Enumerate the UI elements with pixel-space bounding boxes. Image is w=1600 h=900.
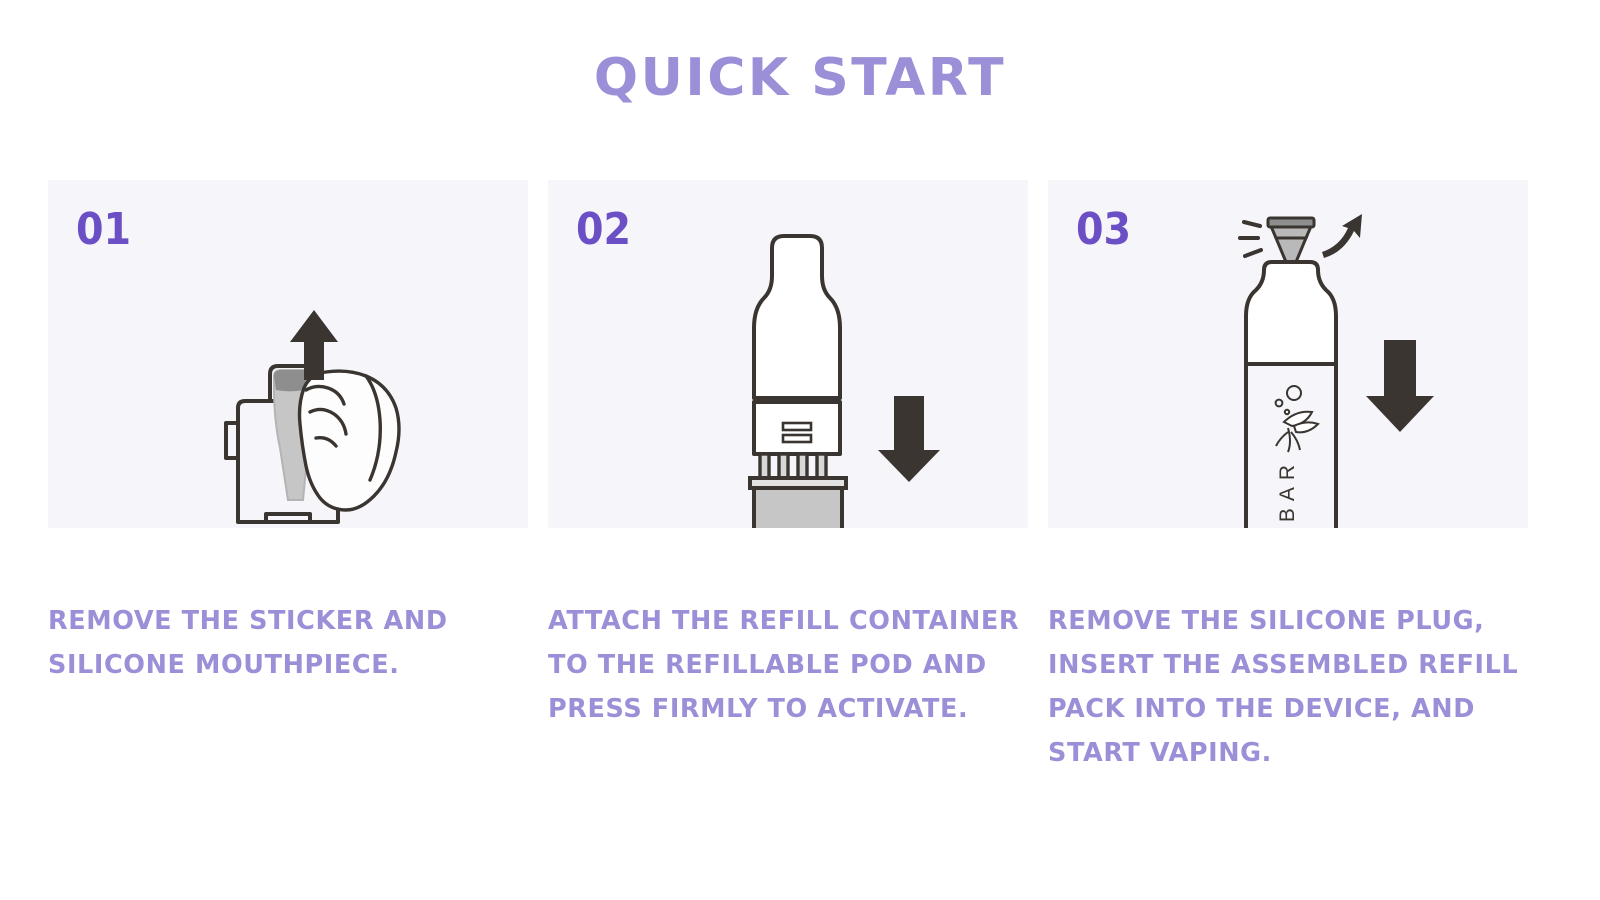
illustration-remove-plug-insert: BAR xyxy=(1048,180,1528,528)
device-brand-text: BAR xyxy=(1276,458,1299,522)
illustration-attach-refill xyxy=(548,180,1028,528)
step-panel-1: 01 xyxy=(48,180,528,528)
step-caption-3: REMOVE THE SILICONE PLUG, INSERT THE ASS… xyxy=(1048,600,1548,775)
illustration-remove-sticker xyxy=(48,180,528,528)
step-caption-1: REMOVE THE STICKER AND SILICONE MOUTHPIE… xyxy=(48,600,538,688)
curved-arrow xyxy=(1322,214,1362,258)
brand-leaf-logo xyxy=(1276,386,1318,452)
arrow-down xyxy=(878,396,940,482)
step-column-1: 01 xyxy=(48,180,528,775)
arrow-down xyxy=(1366,340,1434,432)
silicone-plug xyxy=(1268,218,1314,262)
step-panel-2: 02 xyxy=(548,180,1028,528)
step-column-3: 03 xyxy=(1048,180,1528,775)
motion-lines xyxy=(1240,222,1261,256)
step-column-2: 02 xyxy=(548,180,1028,775)
step-panel-3: 03 xyxy=(1048,180,1528,528)
steps-row: 01 xyxy=(48,180,1552,775)
page-title: QUICK START xyxy=(0,52,1600,104)
step-caption-2: ATTACH THE REFILL CONTAINER TO THE REFIL… xyxy=(548,600,1038,732)
